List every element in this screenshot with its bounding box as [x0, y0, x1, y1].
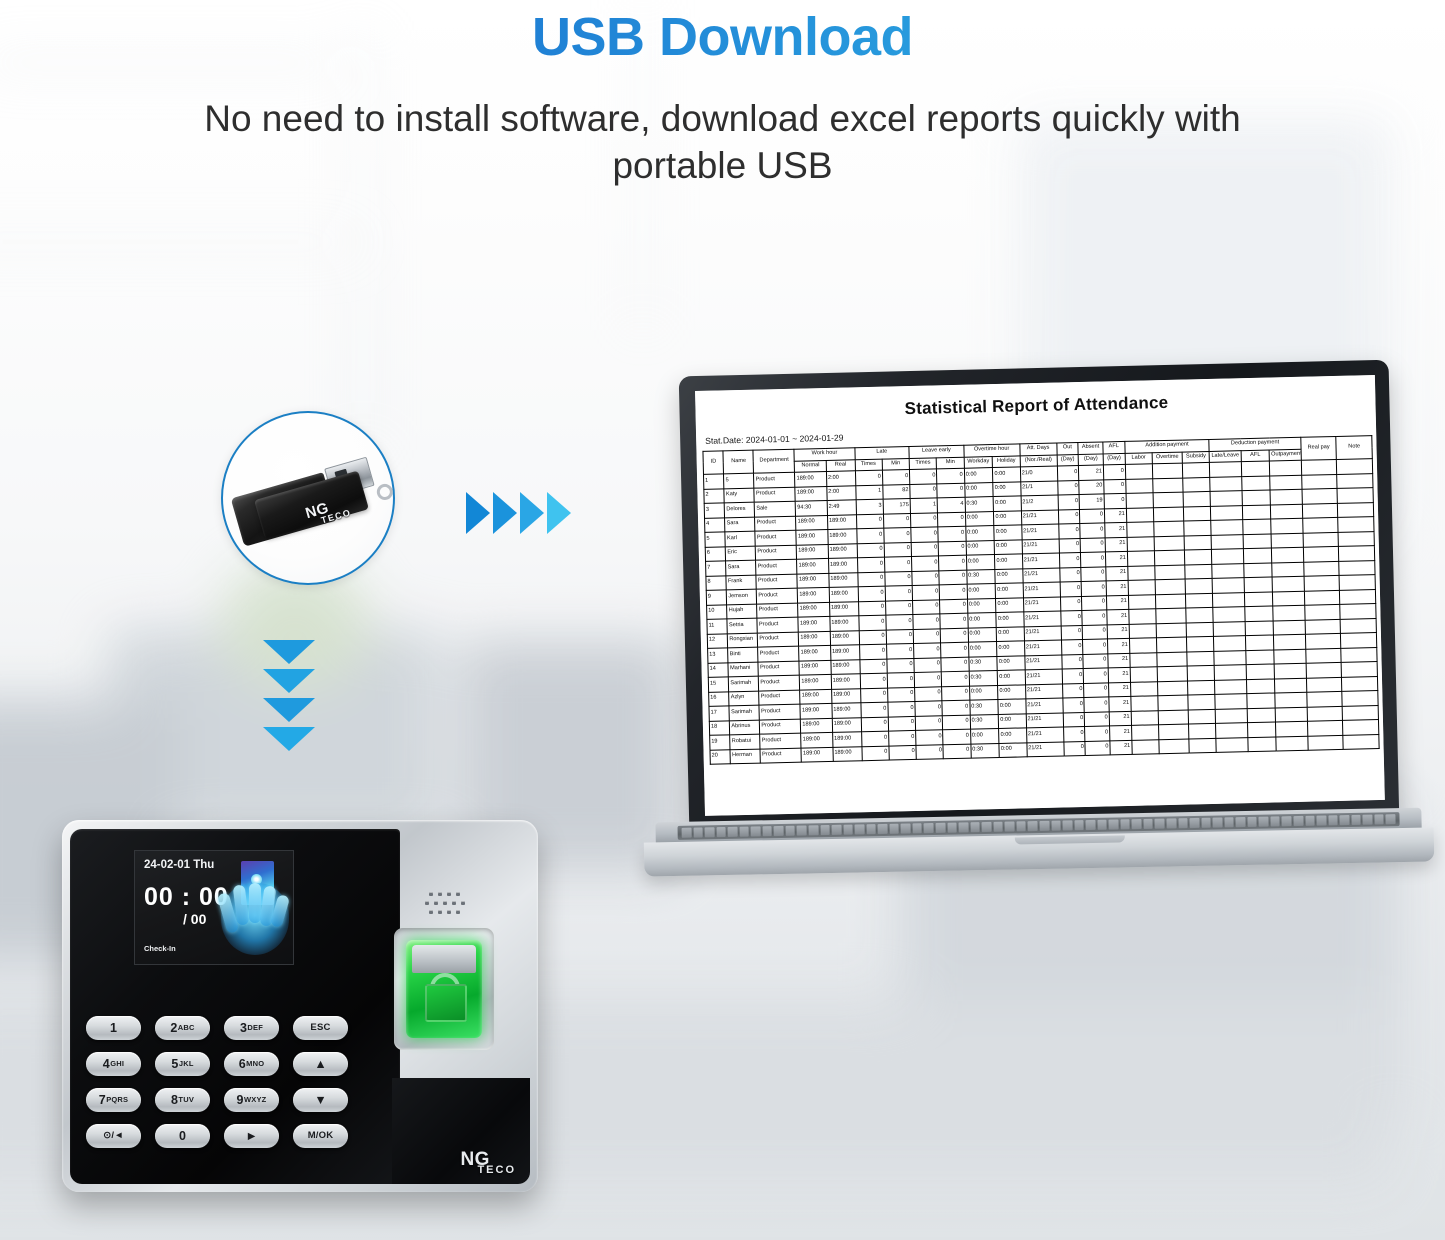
cell-empty [1307, 720, 1343, 735]
report-title: Statistical Report of Attendance [701, 388, 1371, 424]
laptop-key[interactable] [1201, 818, 1211, 828]
cell-wh-normal: 189:00 [796, 529, 828, 544]
cell-empty [1215, 665, 1247, 680]
laptop: Statistical Report of Attendance Stat.Da… [640, 360, 1430, 900]
cell-id: 5 [705, 532, 726, 547]
table-sub-header: Normal [795, 460, 827, 472]
keypad-key-sub: WXYZ [244, 1096, 266, 1104]
cell-name: Rongxian [728, 633, 758, 648]
laptop-key[interactable] [705, 827, 715, 837]
cell-empty [1302, 488, 1338, 503]
laptop-key[interactable] [1386, 814, 1396, 824]
cell-le-times: 0 [916, 730, 944, 745]
cell-empty [1305, 604, 1341, 619]
cell-wh-normal: 189:00 [795, 486, 827, 501]
cell-empty [1156, 623, 1186, 638]
cell-dept: Product [756, 559, 797, 574]
finger-icon [249, 883, 261, 923]
cell-ot-workday: 0:00 [966, 555, 995, 570]
cell-dept: Sale [755, 501, 796, 516]
laptop-key[interactable] [751, 826, 761, 836]
keypad-key-6-mno[interactable]: 6MNO [224, 1052, 279, 1076]
laptop-key[interactable] [1305, 816, 1315, 826]
laptop-key[interactable] [1328, 815, 1338, 825]
cell-wh-normal: 189:00 [801, 747, 833, 762]
cell-late-times: 0 [860, 702, 888, 717]
cell-wh-real: 189:00 [830, 616, 859, 631]
laptop-key[interactable] [1363, 815, 1373, 825]
excel-report-sheet: Statistical Report of Attendance Stat.Da… [695, 375, 1385, 816]
laptop-key[interactable] [982, 822, 992, 832]
cell-dept: Product [757, 603, 798, 618]
laptop-key[interactable] [820, 825, 830, 835]
grille-dot [447, 910, 451, 914]
table-sub-header: (Day) [1078, 453, 1103, 465]
keypad-key-3-def[interactable]: 3DEF [224, 1016, 279, 1040]
cell-empty [1305, 619, 1341, 634]
laptop-key[interactable] [1120, 819, 1130, 829]
cell-att-days: 21/21 [1026, 698, 1063, 713]
cell-out: 0 [1061, 654, 1083, 669]
cell-absent: 0 [1085, 726, 1110, 741]
cell-empty [1158, 681, 1188, 696]
laptop-key[interactable] [866, 824, 876, 834]
laptop-key[interactable] [739, 827, 749, 837]
fingerprint-sensor-icon[interactable] [406, 940, 482, 1038]
cell-empty [1272, 562, 1304, 577]
cell-wh-normal: 189:00 [800, 703, 832, 718]
cell-empty [1270, 460, 1302, 475]
cell-afl: 21 [1106, 566, 1128, 581]
keypad-key-mok[interactable]: M/OK [293, 1124, 348, 1148]
cell-dept: Product [760, 733, 801, 748]
keypad-key-esc[interactable]: ESC [293, 1016, 348, 1040]
laptop-key[interactable] [809, 825, 819, 835]
laptop-key[interactable] [901, 823, 911, 833]
cell-empty [1213, 607, 1245, 622]
cell-out: 0 [1062, 668, 1084, 683]
chevron-right-icon [466, 492, 490, 534]
laptop-key[interactable] [1166, 818, 1176, 828]
cell-empty [1158, 710, 1188, 725]
cell-id: 9 [706, 590, 727, 605]
cell-empty [1130, 667, 1158, 682]
laptop-key[interactable] [1351, 815, 1361, 825]
cell-wh-normal: 189:00 [796, 515, 828, 530]
cell-dept: Product [754, 487, 795, 502]
cell-empty [1271, 533, 1303, 548]
cell-empty [1276, 707, 1308, 722]
laptop-key[interactable] [1282, 816, 1292, 826]
cell-dept: Product [759, 675, 800, 690]
cell-ot-holiday: 0:00 [998, 670, 1026, 685]
laptop-key[interactable] [728, 827, 738, 837]
laptop-key[interactable] [1317, 815, 1327, 825]
laptop-key[interactable] [1293, 816, 1303, 826]
cell-empty [1156, 608, 1186, 623]
laptop-key[interactable] [1039, 821, 1049, 831]
grille-dot [452, 901, 456, 905]
laptop-key[interactable] [1247, 817, 1257, 827]
cell-empty [1243, 534, 1272, 549]
cell-empty [1270, 475, 1302, 490]
usb-keyring-icon [375, 482, 395, 502]
cell-out: 0 [1058, 509, 1080, 524]
table-group-header: AFL [1103, 441, 1125, 453]
cell-id: 20 [710, 749, 731, 764]
keypad-key-5-jkl[interactable]: 5JKL [155, 1052, 210, 1076]
chevron-right-icon [547, 492, 571, 534]
laptop-key[interactable] [1143, 819, 1153, 829]
cell-empty [1186, 593, 1214, 608]
keypad-key-main: 5 [171, 1058, 178, 1071]
cell-dept: Product [758, 632, 799, 647]
cell-empty [1184, 535, 1212, 550]
grille-dot [425, 901, 429, 905]
cell-empty [1152, 463, 1182, 478]
laptop-key[interactable] [855, 824, 865, 834]
cell-empty [1273, 576, 1305, 591]
cell-empty [1343, 720, 1379, 735]
cell-att-days: 21/21 [1027, 741, 1064, 756]
laptop-key[interactable] [1132, 819, 1142, 829]
cell-dept: Product [757, 588, 798, 603]
cell-late-min: 0 [884, 542, 912, 557]
laptop-key[interactable] [1086, 820, 1096, 830]
laptop-key[interactable] [1051, 821, 1061, 831]
keypad-key-main: 6 [239, 1058, 246, 1071]
cell-empty [1211, 505, 1243, 520]
keypad-key-[interactable]: ▼ [293, 1088, 348, 1112]
cell-name: Sara [725, 517, 755, 532]
grille-dot [443, 901, 447, 905]
cell-empty [1127, 522, 1155, 537]
cell-empty [1306, 662, 1342, 677]
laptop-key[interactable] [1109, 819, 1119, 829]
cell-name: Delores [725, 502, 755, 517]
laptop-key[interactable] [1005, 821, 1015, 831]
fingerprint-sensor-well[interactable] [394, 928, 494, 1050]
cell-le-min: 0 [937, 483, 965, 498]
cell-le-times: 0 [914, 643, 942, 658]
cell-late-min: 0 [887, 672, 915, 687]
laptop-key[interactable] [936, 823, 946, 833]
cell-empty [1241, 476, 1270, 491]
cell-ot-holiday: 0:00 [998, 684, 1026, 699]
laptop-key[interactable] [889, 824, 899, 834]
cell-ot-holiday: 0:00 [994, 539, 1022, 554]
cell-wh-normal: 189:00 [800, 689, 832, 704]
laptop-key[interactable] [1074, 820, 1084, 830]
cell-name: Frank [726, 575, 756, 590]
keypad-key-sub: TUV [178, 1096, 194, 1104]
keypad-key-1[interactable]: 1 [86, 1016, 141, 1040]
cell-empty [1216, 737, 1248, 752]
cell-att-days: 21/21 [1023, 611, 1060, 626]
cell-name: Jemson [727, 589, 757, 604]
cell-empty [1307, 691, 1343, 706]
cell-empty [1275, 663, 1307, 678]
laptop-key[interactable] [1213, 817, 1223, 827]
grille-dot [447, 892, 451, 896]
laptop-key[interactable] [947, 823, 957, 833]
cell-out: 0 [1061, 625, 1083, 640]
laptop-key[interactable] [843, 825, 853, 835]
cell-le-times: 0 [913, 614, 941, 629]
keypad-key-main: ⊙/◄ [103, 1131, 124, 1141]
laptop-key[interactable] [1236, 817, 1246, 827]
keypad-key-main: 0 [179, 1130, 186, 1143]
keypad-key-0[interactable]: 0 [155, 1124, 210, 1148]
cell-empty [1158, 695, 1188, 710]
cell-ot-holiday: 0:00 [994, 510, 1022, 525]
cell-id: 4 [705, 517, 726, 532]
cell-late-times: 0 [861, 731, 889, 746]
cell-name: Robatui [730, 734, 760, 749]
cell-empty [1159, 739, 1189, 754]
cell-wh-normal: 189:00 [798, 587, 830, 602]
cell-ot-holiday: 0:00 [994, 525, 1022, 540]
right-arrow-chevrons [466, 492, 571, 534]
cell-afl: 21 [1109, 725, 1131, 740]
cell-empty [1303, 546, 1339, 561]
cell-late-min: 0 [883, 513, 911, 528]
cell-empty [1247, 693, 1276, 708]
chevron-down-icon [263, 727, 315, 751]
cell-empty [1157, 652, 1187, 667]
laptop-key[interactable] [1155, 819, 1165, 829]
cell-id: 12 [707, 633, 728, 648]
laptop-key[interactable] [682, 828, 692, 838]
cell-wh-real: 189:00 [829, 587, 858, 602]
cell-ot-workday: 0:30 [967, 569, 996, 584]
cell-name: Marhani [728, 662, 758, 677]
cell-name: Sara [726, 560, 756, 575]
cell-empty [1185, 564, 1213, 579]
cell-empty [1127, 536, 1155, 551]
keypad-key-8-tuv[interactable]: 8TUV [155, 1088, 210, 1112]
cell-afl: 21 [1110, 740, 1132, 755]
cell-empty [1337, 473, 1373, 488]
cell-empty [1276, 736, 1308, 751]
cell-name: Hujah [727, 604, 757, 619]
laptop-key[interactable] [912, 823, 922, 833]
cell-late-min: 0 [886, 614, 914, 629]
device-keypad[interactable]: 12ABC3DEFESC4GHI5JKL6MNO▲7PQRS8TUV9WXYZ▼… [86, 1016, 376, 1160]
cell-late-min: 0 [885, 571, 913, 586]
cell-wh-real: 189:00 [829, 572, 858, 587]
page-subtitle: No need to install software, download ex… [200, 95, 1245, 190]
cell-ot-workday: 0:00 [966, 540, 995, 555]
cell-empty [1275, 678, 1307, 693]
cell-empty [1153, 478, 1183, 493]
cell-att-days: 21/2 [1021, 495, 1058, 510]
laptop-key[interactable] [1097, 820, 1107, 830]
cell-empty [1188, 694, 1216, 709]
lcd-date: 24-02-01 Thu [144, 859, 214, 871]
table-sub-header: Times [855, 459, 883, 471]
cell-le-times: 0 [915, 686, 943, 701]
cell-ot-holiday: 0:00 [999, 728, 1027, 743]
cell-empty [1302, 503, 1338, 518]
cell-dept: Product [760, 719, 801, 734]
cell-empty [1214, 636, 1246, 651]
cell-empty [1304, 561, 1340, 576]
cell-att-days: 21/21 [1023, 597, 1060, 612]
table-group-header: Department [753, 449, 794, 473]
down-arrow-chevrons [263, 640, 315, 751]
cell-absent: 0 [1084, 697, 1109, 712]
keypad-key-sub: DEF [247, 1024, 263, 1032]
keypad-key-sub: JKL [179, 1060, 194, 1068]
cell-wh-real: 189:00 [827, 514, 856, 529]
cell-wh-real: 189:00 [831, 674, 860, 689]
cell-empty [1246, 678, 1275, 693]
cell-late-min: 0 [889, 745, 917, 760]
cell-name: Sarimah [729, 676, 759, 691]
laptop-key[interactable] [1178, 818, 1188, 828]
laptop-key[interactable] [693, 827, 703, 837]
cell-wh-real: 2:00 [826, 471, 855, 486]
laptop-key[interactable] [959, 822, 969, 832]
laptop-screen: Statistical Report of Attendance Stat.Da… [695, 375, 1385, 816]
cell-empty [1342, 676, 1378, 691]
cell-le-min: 0 [941, 657, 969, 672]
cell-afl: 21 [1109, 696, 1131, 711]
cell-id: 15 [708, 677, 729, 692]
cell-le-times: 0 [916, 744, 944, 759]
laptop-key[interactable] [993, 822, 1003, 832]
laptop-key[interactable] [1340, 815, 1350, 825]
cell-name: Binti [728, 647, 758, 662]
keypad-key-[interactable]: ► [224, 1124, 279, 1148]
cell-late-min: 175 [883, 499, 911, 514]
cell-empty [1129, 609, 1157, 624]
keypad-key-4-ghi[interactable]: 4GHI [86, 1052, 141, 1076]
cell-ot-holiday: 0:00 [997, 641, 1025, 656]
cell-empty [1155, 579, 1185, 594]
cell-att-days: 21/21 [1023, 582, 1060, 597]
laptop-key[interactable] [1259, 817, 1269, 827]
cell-empty [1271, 518, 1303, 533]
cell-id: 18 [709, 720, 730, 735]
laptop-key[interactable] [762, 826, 772, 836]
cell-ot-workday: 0:30 [969, 670, 998, 685]
cell-dept: Product [759, 690, 800, 705]
laptop-key[interactable] [832, 825, 842, 835]
cell-empty [1270, 489, 1302, 504]
grille-dot [461, 901, 465, 905]
laptop-key[interactable] [785, 826, 795, 836]
cell-name: Azlyn [729, 691, 759, 706]
cell-dept: Product [754, 472, 795, 487]
grille-dot [429, 910, 433, 914]
laptop-key[interactable] [1224, 817, 1234, 827]
keypad-key-2-abc[interactable]: 2ABC [155, 1016, 210, 1040]
laptop-key[interactable] [878, 824, 888, 834]
table-sub-header: Workday [964, 456, 993, 468]
cell-empty [1213, 621, 1245, 636]
cell-name: Karl [725, 531, 755, 546]
laptop-key[interactable] [924, 823, 934, 833]
keypad-key-9-wxyz[interactable]: 9WXYZ [224, 1088, 279, 1112]
cell-out: 0 [1058, 524, 1080, 539]
cell-empty [1338, 517, 1374, 532]
cell-out: 0 [1062, 697, 1084, 712]
cell-empty [1303, 517, 1339, 532]
chevron-right-icon [493, 492, 517, 534]
cell-empty [1276, 721, 1308, 736]
cell-dept: Product [755, 530, 796, 545]
cell-empty [1131, 696, 1159, 711]
keypad-key-[interactable]: ⊙/◄ [86, 1124, 141, 1148]
table-group-header: ID [703, 451, 724, 474]
table-sub-header: Holiday [993, 455, 1021, 467]
laptop-key[interactable] [1374, 814, 1384, 824]
cell-dept: Product [759, 704, 800, 719]
cell-empty [1244, 591, 1273, 606]
keypad-key-main: 8 [171, 1094, 178, 1107]
cell-afl: 21 [1105, 551, 1127, 566]
cell-empty [1210, 476, 1242, 491]
cell-id: 11 [707, 619, 728, 634]
cell-empty [1303, 532, 1339, 547]
laptop-key[interactable] [970, 822, 980, 832]
cell-late-times: 0 [861, 717, 889, 732]
cell-le-times: 0 [911, 527, 939, 542]
cell-le-min: 0 [937, 468, 965, 483]
grille-dot [429, 892, 433, 896]
cell-empty [1243, 548, 1272, 563]
keypad-key-7-pqrs[interactable]: 7PQRS [86, 1088, 141, 1112]
cell-empty [1275, 692, 1307, 707]
cell-le-min: 0 [940, 584, 968, 599]
cell-wh-normal: 189:00 [801, 732, 833, 747]
table-group-header: Real pay [1301, 436, 1337, 460]
cell-empty [1183, 477, 1211, 492]
cell-le-min: 0 [942, 686, 970, 701]
cell-empty [1159, 724, 1189, 739]
cell-empty [1245, 606, 1274, 621]
laptop-key[interactable] [1016, 821, 1026, 831]
cell-le-times: 0 [911, 541, 939, 556]
laptop-key[interactable] [774, 826, 784, 836]
cell-empty [1184, 520, 1212, 535]
cell-att-days: 21/21 [1024, 640, 1061, 655]
laptop-key[interactable] [1270, 816, 1280, 826]
cell-empty [1187, 636, 1215, 651]
laptop-key[interactable] [1190, 818, 1200, 828]
cell-empty [1306, 677, 1342, 692]
laptop-key[interactable] [1063, 820, 1073, 830]
cell-absent: 0 [1081, 566, 1106, 581]
cell-empty [1271, 504, 1303, 519]
laptop-key[interactable] [1028, 821, 1038, 831]
cell-empty [1339, 575, 1375, 590]
cell-ot-workday: 0:00 [965, 511, 994, 526]
keypad-key-[interactable]: ▲ [293, 1052, 348, 1076]
laptop-key[interactable] [797, 825, 807, 835]
cell-empty [1245, 635, 1274, 650]
laptop-key[interactable] [716, 827, 726, 837]
usb-drive-badge: NGTECO [221, 411, 395, 585]
cell-empty [1245, 620, 1274, 635]
table-sub-header: AFL [1241, 450, 1270, 462]
cell-wh-real: 189:00 [828, 543, 857, 558]
cell-ot-holiday: 0:00 [995, 554, 1023, 569]
lcd-time: 00 : 00 [144, 883, 229, 912]
table-sub-header: Outpayment [1270, 449, 1302, 461]
